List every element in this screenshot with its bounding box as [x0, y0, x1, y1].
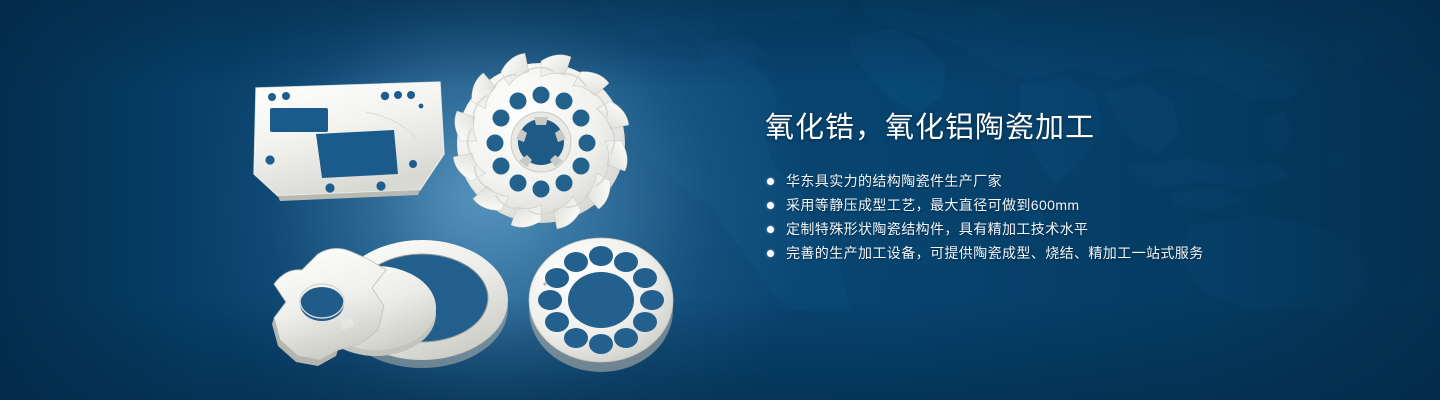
- list-item: 完善的生产加工设备，可提供陶瓷成型、烧结、精加工一站式服务: [765, 241, 1385, 265]
- ceramic-impeller-disc-image: [446, 46, 636, 236]
- list-item: 定制特殊形状陶瓷结构件，具有精加工技术水平: [765, 217, 1385, 241]
- page-title: 氧化锆，氧化铝陶瓷加工: [765, 108, 1385, 148]
- product-image-cluster: [0, 0, 740, 400]
- list-item-label: 采用等静压成型工艺，最大直径可做到600mm: [786, 197, 1079, 213]
- bullet-dot-icon: [767, 178, 774, 185]
- list-item-label: 定制特殊形状陶瓷结构件，具有精加工技术水平: [786, 221, 1088, 237]
- bullet-dot-icon: [767, 226, 774, 233]
- list-item-label: 华东具实力的结构陶瓷件生产厂家: [786, 173, 1002, 189]
- ceramic-cross-plate-and-ring-image: [246, 222, 526, 374]
- ceramic-products-banner: 氧化锆，氧化铝陶瓷加工 华东具实力的结构陶瓷件生产厂家 采用等静压成型工艺，最大…: [0, 0, 1440, 400]
- list-item-label: 完善的生产加工设备，可提供陶瓷成型、烧结、精加工一站式服务: [786, 245, 1204, 261]
- list-item: 华东具实力的结构陶瓷件生产厂家: [765, 169, 1385, 193]
- bullet-dot-icon: [767, 202, 774, 209]
- feature-list: 华东具实力的结构陶瓷件生产厂家 采用等静压成型工艺，最大直径可做到600mm 定…: [765, 169, 1385, 265]
- ceramic-plate-with-cutouts-image: [248, 78, 448, 203]
- list-item: 采用等静压成型工艺，最大直径可做到600mm: [765, 193, 1385, 217]
- ceramic-perforated-disc-image: [508, 222, 694, 378]
- bullet-dot-icon: [767, 250, 774, 257]
- banner-copy: 氧化锆，氧化铝陶瓷加工 华东具实力的结构陶瓷件生产厂家 采用等静压成型工艺，最大…: [765, 108, 1385, 265]
